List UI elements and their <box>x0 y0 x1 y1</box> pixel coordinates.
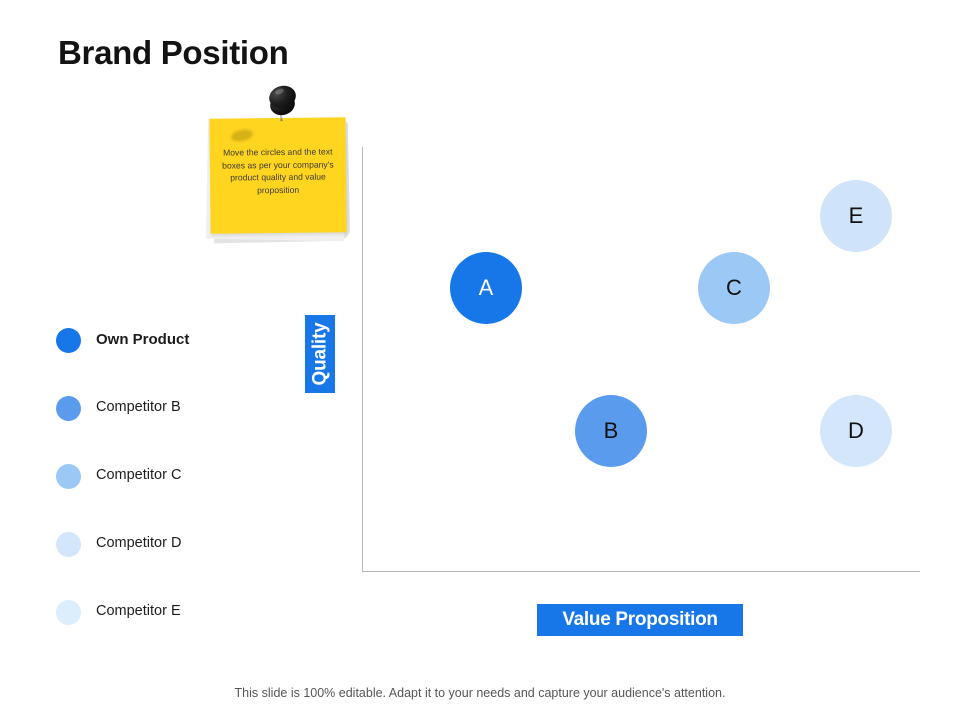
legend-item-own-product[interactable]: Own Product <box>56 328 286 396</box>
note-body: Move the circles and the text boxes as p… <box>209 117 346 233</box>
footer-note: This slide is 100% editable. Adapt it to… <box>0 686 960 700</box>
x-axis-label: Value Proposition <box>537 604 743 636</box>
sticky-note[interactable]: Move the circles and the text boxes as p… <box>205 112 353 240</box>
bubble-c-label: C <box>726 277 742 299</box>
legend-dot-competitor-e <box>56 600 81 625</box>
legend-item-competitor-e[interactable]: Competitor E <box>56 600 286 668</box>
y-axis-line <box>362 147 363 572</box>
x-axis-line <box>362 571 920 572</box>
bubble-a-label: A <box>479 277 494 299</box>
legend-label-own-product: Own Product <box>96 331 189 348</box>
bubble-a[interactable]: A <box>450 252 522 324</box>
pushpin-icon <box>267 86 301 126</box>
bubble-e-label: E <box>849 205 864 227</box>
slide-canvas: Brand Position Move the circles and the … <box>0 0 960 720</box>
legend-label-competitor-b: Competitor B <box>96 399 181 415</box>
legend-label-competitor-d: Competitor D <box>96 535 181 551</box>
legend: Own Product Competitor B Competitor C Co… <box>56 328 286 668</box>
bubble-d-label: D <box>848 420 864 442</box>
legend-item-competitor-b[interactable]: Competitor B <box>56 396 286 464</box>
legend-dot-competitor-d <box>56 532 81 557</box>
bubble-b[interactable]: B <box>575 395 647 467</box>
legend-dot-competitor-b <box>56 396 81 421</box>
bubble-d[interactable]: D <box>820 395 892 467</box>
legend-dot-competitor-c <box>56 464 81 489</box>
bubble-c[interactable]: C <box>698 252 770 324</box>
legend-label-competitor-e: Competitor E <box>96 603 181 619</box>
legend-item-competitor-d[interactable]: Competitor D <box>56 532 286 600</box>
bubble-b-label: B <box>604 420 619 442</box>
y-axis-label: Quality <box>305 315 335 393</box>
legend-dot-own-product <box>56 328 81 353</box>
bubble-e[interactable]: E <box>820 180 892 252</box>
legend-label-competitor-c: Competitor C <box>96 467 181 483</box>
legend-item-competitor-c[interactable]: Competitor C <box>56 464 286 532</box>
chart-plot-area: A B C D E <box>362 147 920 572</box>
note-text: Move the circles and the text boxes as p… <box>220 145 337 197</box>
y-axis-label-text: Quality <box>309 322 331 385</box>
page-title: Brand Position <box>58 34 288 72</box>
